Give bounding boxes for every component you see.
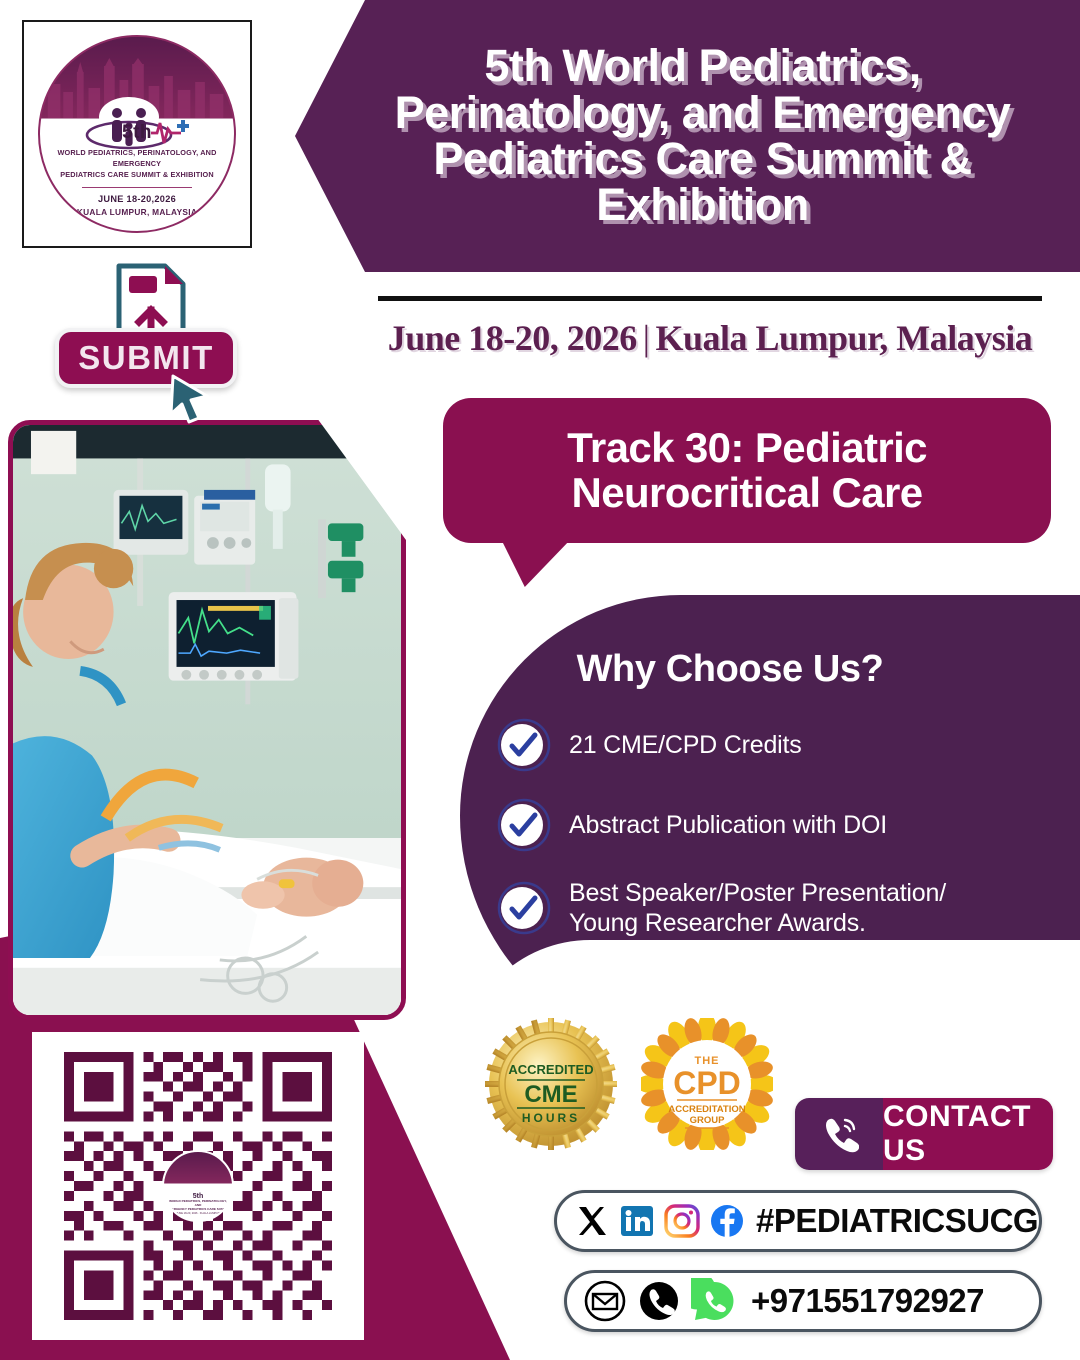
event-separator: | bbox=[637, 318, 656, 358]
accreditation-badges: ACCREDITED CME HOURS bbox=[485, 1018, 785, 1158]
why-choose-us-heading: Why Choose Us? bbox=[465, 648, 995, 691]
logo-circle: 5th WORLD PEDIATRICS, PERINATOLOGY, AND … bbox=[38, 35, 236, 233]
qr-logo-line3: JUNE 18-20, 2026 · KUALA LUMPUR bbox=[176, 1212, 220, 1215]
list-item: Abstract Publication with DOI bbox=[497, 798, 1067, 852]
phone-ring-icon bbox=[819, 1114, 859, 1154]
date-divider-rule bbox=[378, 296, 1042, 301]
list-item-label: 21 CME/CPD Credits bbox=[569, 730, 802, 760]
facebook-icon[interactable] bbox=[706, 1200, 748, 1242]
instagram-icon[interactable] bbox=[661, 1200, 703, 1242]
list-item: 21 CME/CPD Credits bbox=[497, 718, 1067, 772]
event-date-location: June 18-20, 2026|Kuala Lumpur, Malaysia bbox=[378, 317, 1042, 359]
cpd-badge-line2: CPD bbox=[673, 1065, 741, 1101]
track-title-bubble: Track 30: Pediatric Neurocritical Care bbox=[443, 398, 1051, 543]
logo-edition: 5th bbox=[40, 122, 234, 144]
cpd-badge-line3: ACCREDITATION bbox=[668, 1104, 745, 1115]
event-date-strip: June 18-20, 2026|Kuala Lumpur, Malaysia bbox=[378, 296, 1042, 359]
nicu-photo-illustration bbox=[13, 425, 401, 1015]
linkedin-icon[interactable] bbox=[616, 1200, 658, 1242]
check-circle-icon bbox=[497, 881, 551, 935]
whatsapp-icon[interactable] bbox=[691, 1278, 737, 1324]
qr-code[interactable]: 5th WORLD PEDIATRICS, PERINATOLOGY, AND … bbox=[32, 1032, 364, 1340]
logo-divider bbox=[82, 187, 192, 188]
check-circle-icon bbox=[497, 718, 551, 772]
cme-badge-line3: HOURS bbox=[522, 1111, 580, 1125]
cpd-seal-icon: THE CPD ACCREDITATION GROUP bbox=[641, 1018, 773, 1150]
conference-logo: 5th WORLD PEDIATRICS, PERINATOLOGY, AND … bbox=[22, 20, 252, 248]
logo-city: KUALA LUMPUR, MALAYSIA bbox=[40, 207, 234, 217]
cme-badge-line1: ACCREDITED bbox=[508, 1062, 593, 1077]
bubble-tail bbox=[501, 539, 571, 587]
contact-icon-panel bbox=[795, 1098, 883, 1170]
page-title: 5th World Pediatrics, Perinatology, and … bbox=[347, 43, 1029, 228]
contact-us-label: CONTACT US bbox=[883, 1100, 1053, 1168]
list-item-label: Abstract Publication with DOI bbox=[569, 810, 887, 840]
contact-label-panel: CONTACT US bbox=[883, 1098, 1053, 1170]
cpd-accreditation-group-badge: THE CPD ACCREDITATION GROUP bbox=[641, 1018, 773, 1150]
cursor-pointer-icon bbox=[167, 374, 213, 424]
social-icon-group bbox=[571, 1200, 748, 1242]
social-handle-pill[interactable]: #PEDIATRICSUCG bbox=[554, 1190, 1042, 1252]
phone-contact-pill[interactable]: +971551792927 bbox=[564, 1270, 1042, 1332]
accredited-cme-hours-badge: ACCREDITED CME HOURS bbox=[485, 1018, 617, 1150]
nicu-photo bbox=[8, 420, 406, 1020]
list-item-label: Best Speaker/Poster Presentation/ Young … bbox=[569, 878, 946, 938]
cme-seal-icon: ACCREDITED CME HOURS bbox=[485, 1018, 617, 1150]
event-date: June 18-20, 2026 bbox=[388, 318, 637, 358]
logo-text-block: 5th WORLD PEDIATRICS, PERINATOLOGY, AND … bbox=[40, 122, 234, 217]
social-handle-text: #PEDIATRICSUCG bbox=[756, 1202, 1038, 1240]
cme-badge-line2: CME bbox=[524, 1081, 577, 1108]
poster-canvas: 5th World Pediatrics, Perinatology, and … bbox=[0, 0, 1080, 1350]
phone-number-text: +971551792927 bbox=[751, 1282, 984, 1320]
track-title: Track 30: Pediatric Neurocritical Care bbox=[545, 426, 949, 514]
event-location: Kuala Lumpur, Malaysia bbox=[655, 318, 1032, 358]
qr-center-logo: 5th WORLD PEDIATRICS, PERINATOLOGY, AND … bbox=[162, 1150, 234, 1222]
submit-abstract-widget[interactable]: SUBMIT bbox=[55, 262, 255, 422]
x-twitter-icon[interactable] bbox=[571, 1200, 613, 1242]
header-banner: 5th World Pediatrics, Perinatology, and … bbox=[295, 0, 1080, 272]
cpd-badge-line4: GROUP bbox=[690, 1115, 726, 1126]
contact-us-button[interactable]: CONTACT US bbox=[795, 1098, 1053, 1170]
phone-icon[interactable] bbox=[637, 1279, 681, 1323]
why-choose-us-panel: Why Choose Us? 21 CME/CPD Credits Abstra… bbox=[465, 600, 1080, 1020]
logo-date: JUNE 18-20,2026 bbox=[40, 194, 234, 204]
why-choose-us-list: 21 CME/CPD Credits Abstract Publication … bbox=[497, 718, 1067, 938]
logo-subtitle: WORLD PEDIATRICS, PERINATOLOGY, AND EMER… bbox=[40, 148, 234, 180]
submit-button-label: SUBMIT bbox=[78, 339, 214, 377]
check-circle-icon bbox=[497, 798, 551, 852]
phone-icon-group bbox=[583, 1278, 737, 1324]
list-item: Best Speaker/Poster Presentation/ Young … bbox=[497, 878, 1067, 938]
email-icon[interactable] bbox=[583, 1279, 627, 1323]
